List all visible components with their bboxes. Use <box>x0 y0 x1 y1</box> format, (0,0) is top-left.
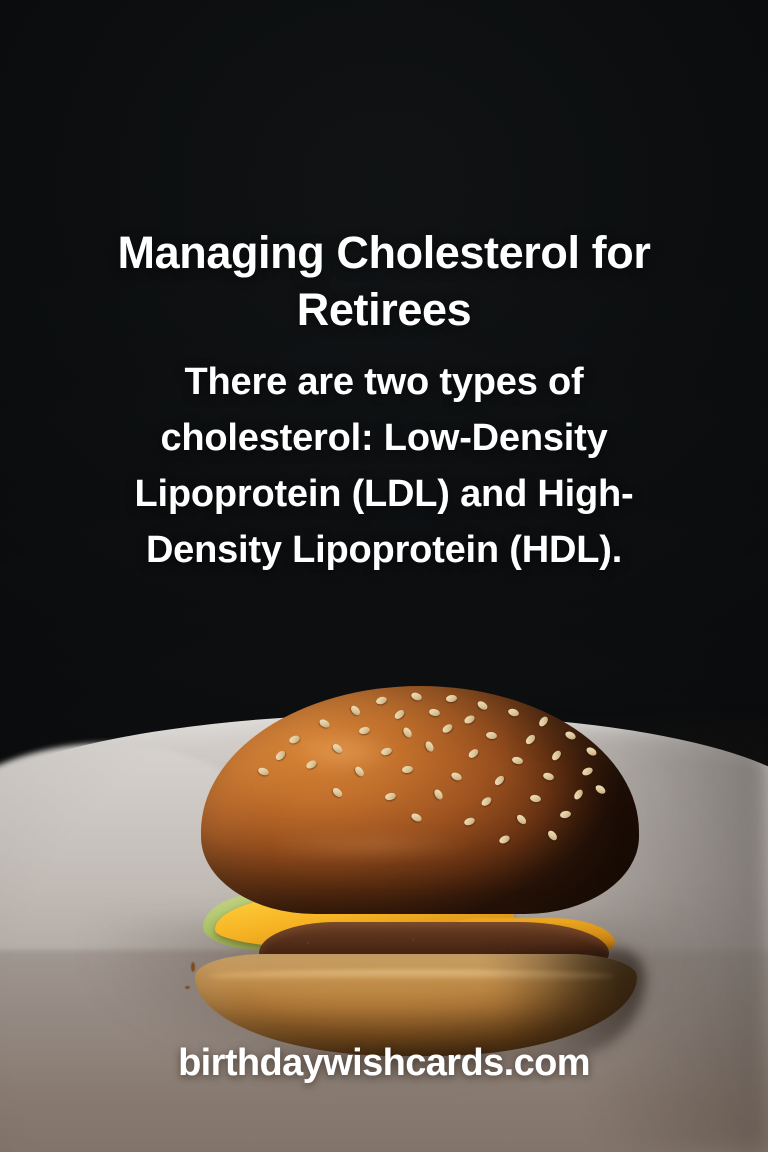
social-card: Managing Cholesterol for Retirees There … <box>0 0 768 1152</box>
page-title: Managing Cholesterol for Retirees <box>64 224 704 338</box>
text-overlay: Managing Cholesterol for Retirees There … <box>0 0 768 1152</box>
site-watermark: birthdaywishcards.com <box>0 1040 768 1086</box>
subtitle-text: There are two types of cholesterol: Low-… <box>104 354 664 578</box>
